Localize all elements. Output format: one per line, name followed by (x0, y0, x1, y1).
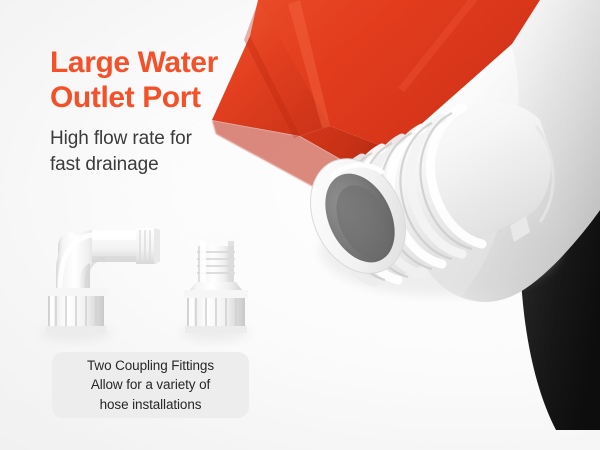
straight-nut (184, 290, 248, 333)
elbow-barbs (136, 228, 160, 264)
fittings-caption-text: Two Coupling Fittings Allow for a variet… (87, 356, 214, 413)
fittings-caption-box: Two Coupling Fittings Allow for a variet… (52, 352, 249, 418)
straight-coupling-fitting (181, 233, 249, 341)
product-feature-banner: Large Water Outlet Port High flow rate f… (0, 0, 600, 450)
page-title: Large Water Outlet Port (50, 45, 300, 116)
elbow-coupling-fitting (40, 228, 160, 341)
elbow-nut (44, 288, 108, 333)
subtitle: High flow rate for fast drainage (50, 126, 285, 177)
straight-barbs (196, 233, 236, 284)
